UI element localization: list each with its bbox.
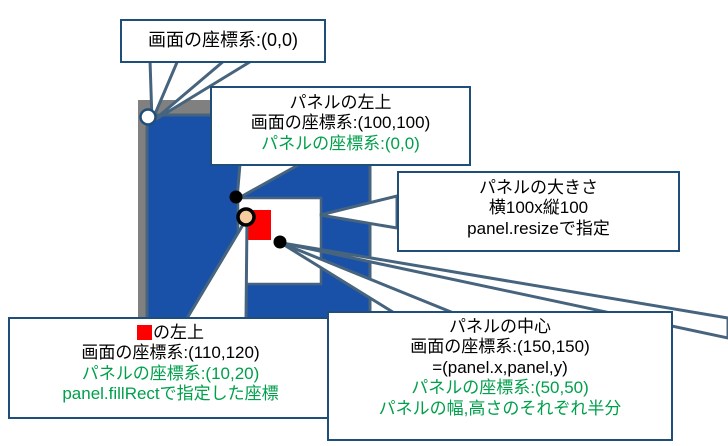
- callout-panel-center-line-2: 画面の座標系:(150,150): [329, 337, 671, 357]
- callout-red-rect-origin-line-3: パネルの座標系:(10,20): [10, 364, 331, 384]
- callout-red-rect-origin: の左上 画面の座標系:(110,120) パネルの座標系:(10,20) pan…: [8, 317, 333, 419]
- callout-screen-origin-line-1: 画面の座標系:(0,0): [122, 30, 324, 52]
- red-square-chip-icon: [137, 325, 152, 340]
- callout-panel-size: パネルの大きさ 横100x縦100 panel.resizeで指定: [397, 171, 680, 252]
- callout-panel-size-line-3: panel.resizeで指定: [399, 219, 678, 239]
- callout-panel-topleft-line-1: パネルの左上: [212, 93, 469, 113]
- callout-red-rect-origin-line-1: の左上: [10, 323, 331, 343]
- callout-red-rect-origin-line-1-text: の左上: [153, 323, 204, 342]
- callout-panel-size-line-2: 横100x縦100: [399, 198, 678, 218]
- callout-panel-topleft-line-3: パネルの座標系:(0,0): [212, 134, 469, 154]
- callout-screen-origin: 画面の座標系:(0,0): [120, 19, 326, 63]
- red-rect-origin-marker: [238, 209, 254, 225]
- screen-origin-marker: [141, 110, 156, 125]
- callout-panel-center-line-5: パネルの幅,高さのそれぞれ半分: [329, 399, 671, 419]
- callout-panel-topleft: パネルの左上 画面の座標系:(100,100) パネルの座標系:(0,0): [210, 86, 471, 166]
- callout-panel-center-line-1: パネルの中心: [329, 317, 671, 337]
- callout-panel-center-line-3: =(panel.x,panel,y): [329, 358, 671, 378]
- callout-panel-center: パネルの中心 画面の座標系:(150,150) =(panel.x,panel,…: [327, 311, 673, 441]
- panel-topleft-marker: [230, 191, 243, 204]
- diagram-canvas: 画面の座標系:(0,0) パネルの左上 画面の座標系:(100,100) パネル…: [0, 0, 728, 446]
- callout-panel-center-line-4: パネルの座標系:(50,50): [329, 378, 671, 398]
- callout-red-rect-origin-line-4: panel.fillRectで指定した座標: [10, 384, 331, 404]
- callout-red-rect-origin-line-2: 画面の座標系:(110,120): [10, 343, 331, 363]
- callout-panel-topleft-line-2: 画面の座標系:(100,100): [212, 113, 469, 133]
- panel-center-marker: [274, 236, 287, 249]
- callout-panel-size-line-1: パネルの大きさ: [399, 178, 678, 198]
